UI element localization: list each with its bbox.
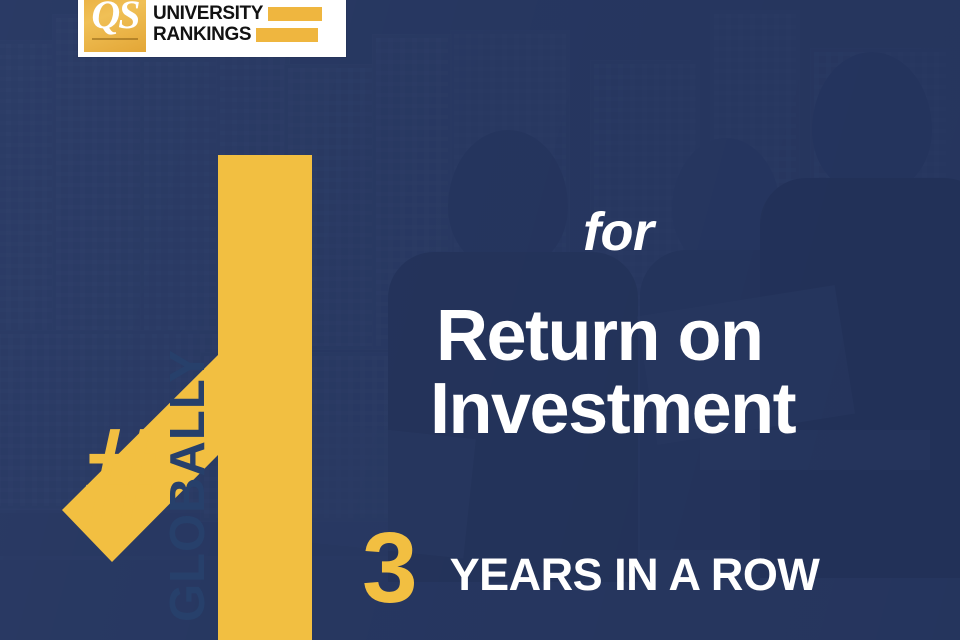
qs-logo-line-university: UNIVERSITY bbox=[153, 3, 340, 24]
hash-symbol: # bbox=[82, 408, 151, 540]
qs-logo: QS WORLD UNIVERSITY RANKINGS bbox=[78, 0, 346, 57]
years-count: 3 bbox=[362, 518, 416, 618]
headline-line-2: Investment bbox=[430, 373, 936, 446]
headline-line-1: Return on bbox=[436, 296, 762, 376]
headline: Return on Investment bbox=[436, 300, 936, 447]
qs-logo-text-rankings: RANKINGS bbox=[153, 25, 251, 44]
qs-logo-bar bbox=[256, 28, 318, 42]
qs-logo-bar bbox=[268, 7, 322, 21]
for-word: for bbox=[583, 205, 653, 259]
years-count-label: YEARS IN A ROW bbox=[450, 552, 820, 597]
years-in-a-row-row: 3 YEARS IN A ROW bbox=[362, 518, 819, 618]
qs-logo-text-university: UNIVERSITY bbox=[153, 4, 263, 23]
qs-logo-line-rankings: RANKINGS bbox=[153, 24, 340, 45]
qs-logo-mark: QS bbox=[84, 0, 146, 52]
qs-logo-wordmark: WORLD UNIVERSITY RANKINGS bbox=[146, 0, 340, 52]
qs-logo-mark-rule bbox=[92, 38, 138, 40]
qs-logo-text-world: WORLD bbox=[153, 0, 223, 2]
globally-label: GLOBALLY bbox=[164, 292, 213, 622]
poster-canvas: GLOBALLY # QS WORLD UNIVERSITY RANKINGS … bbox=[0, 0, 960, 640]
qs-logo-mark-text: QS bbox=[91, 0, 138, 35]
